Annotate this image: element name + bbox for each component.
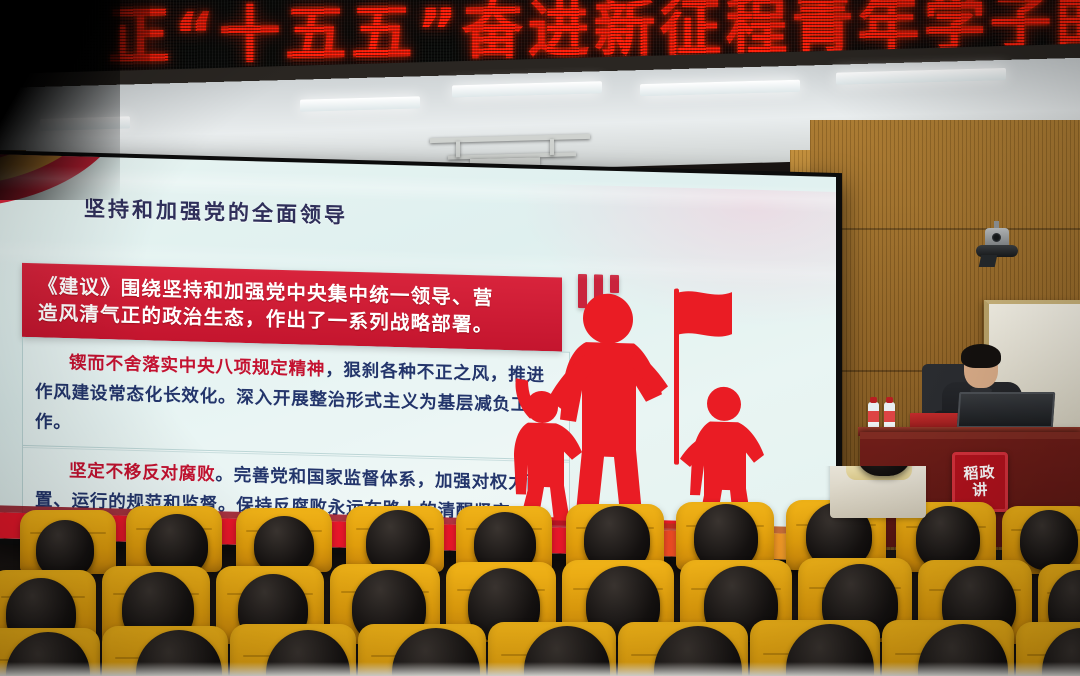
ceiling-light-2 — [452, 81, 602, 97]
ceiling-light-3 — [640, 80, 800, 96]
rig-bar-horizontal — [430, 134, 590, 143]
paragraph-1-highlight: 锲而不舍落实中央八项规定精神 — [69, 353, 325, 380]
rig-post-right — [550, 139, 554, 155]
rig-post-left — [456, 141, 460, 157]
bottle-cap-1 — [870, 397, 877, 403]
ceiling-light-1 — [300, 96, 420, 111]
ptz-camera-icon — [976, 228, 1018, 268]
audience-area — [0, 466, 1080, 676]
bottle-cap-2 — [886, 397, 893, 403]
camera-wall-bracket — [979, 255, 998, 267]
floor-light-strip — [0, 662, 1080, 676]
wall-seam-1 — [810, 228, 1080, 230]
ceiling-light-5 — [40, 116, 130, 131]
audience-head — [1020, 510, 1078, 570]
lecture-hall-scene: 正“十五五”奋进新征程青年学子的 — [0, 0, 1080, 676]
camera-lens — [992, 233, 1001, 242]
ceiling-light-4 — [836, 68, 1006, 85]
slide-paragraph-box-1: 锲而不舍落实中央八项规定精神，狠刹各种不正之风，推进作风建设常态化长效化。深入开… — [22, 337, 570, 463]
speaker-hair — [961, 344, 1001, 368]
paragraph-1: 锲而不舍落实中央八项规定精神，狠刹各种不正之风，推进作风建设常态化长效化。深入开… — [35, 347, 557, 451]
laptop-screen — [957, 392, 1056, 428]
